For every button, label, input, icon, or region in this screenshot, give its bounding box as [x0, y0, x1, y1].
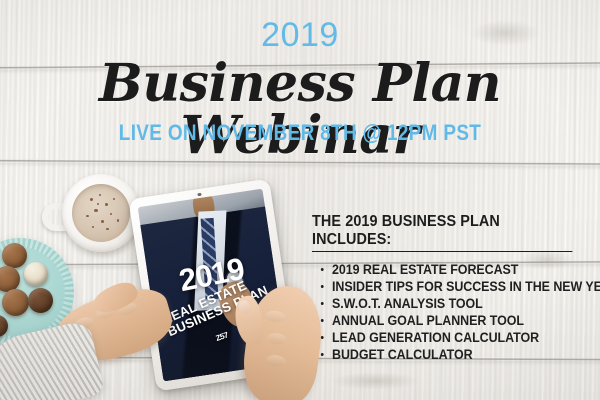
- vignette-overlay: [0, 0, 600, 400]
- webinar-promo-poster: 2019 Business Plan Webinar LIVE ON NOVEM…: [0, 0, 600, 400]
